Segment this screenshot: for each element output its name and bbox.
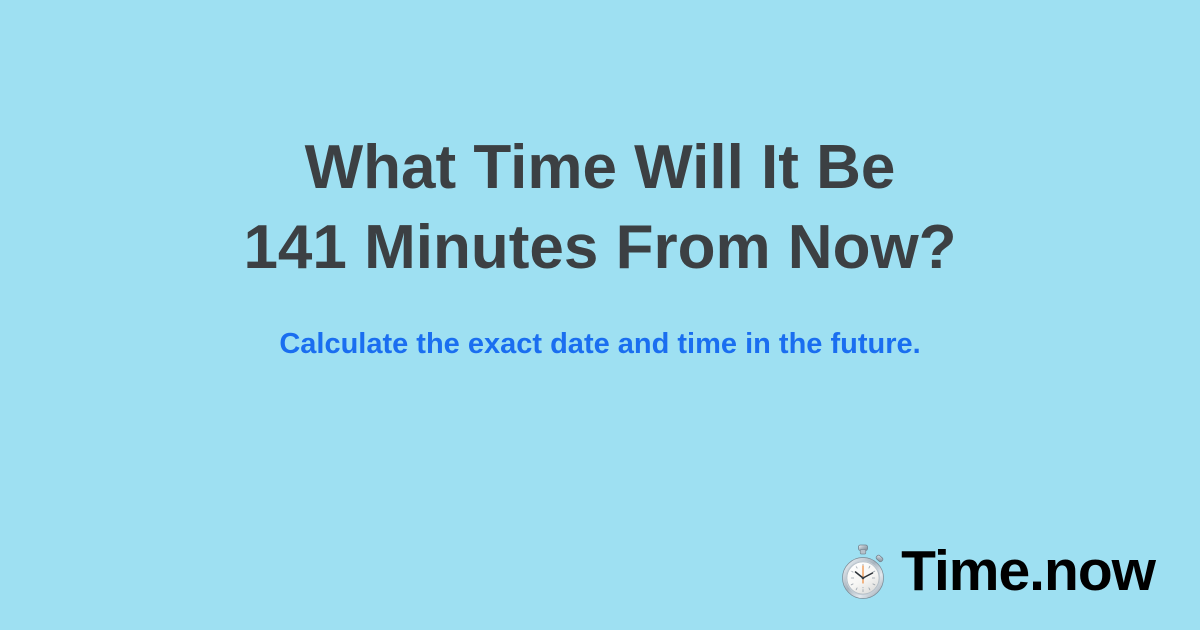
headline-text: What Time Will It Be 141 Minutes From No…: [0, 128, 1200, 288]
brand-name-text: Time.now: [901, 543, 1155, 600]
headline-line-2: 141 Minutes From Now?: [0, 208, 1200, 288]
share-preview-card: What Time Will It Be 141 Minutes From No…: [0, 0, 1200, 630]
page-title: What Time Will It Be 141 Minutes From No…: [0, 128, 1200, 288]
brand-logo: Time.now: [837, 543, 1155, 600]
headline-line-1: What Time Will It Be: [0, 128, 1200, 208]
stopwatch-icon: [837, 544, 889, 600]
subtitle-text: Calculate the exact date and time in the…: [0, 326, 1200, 362]
